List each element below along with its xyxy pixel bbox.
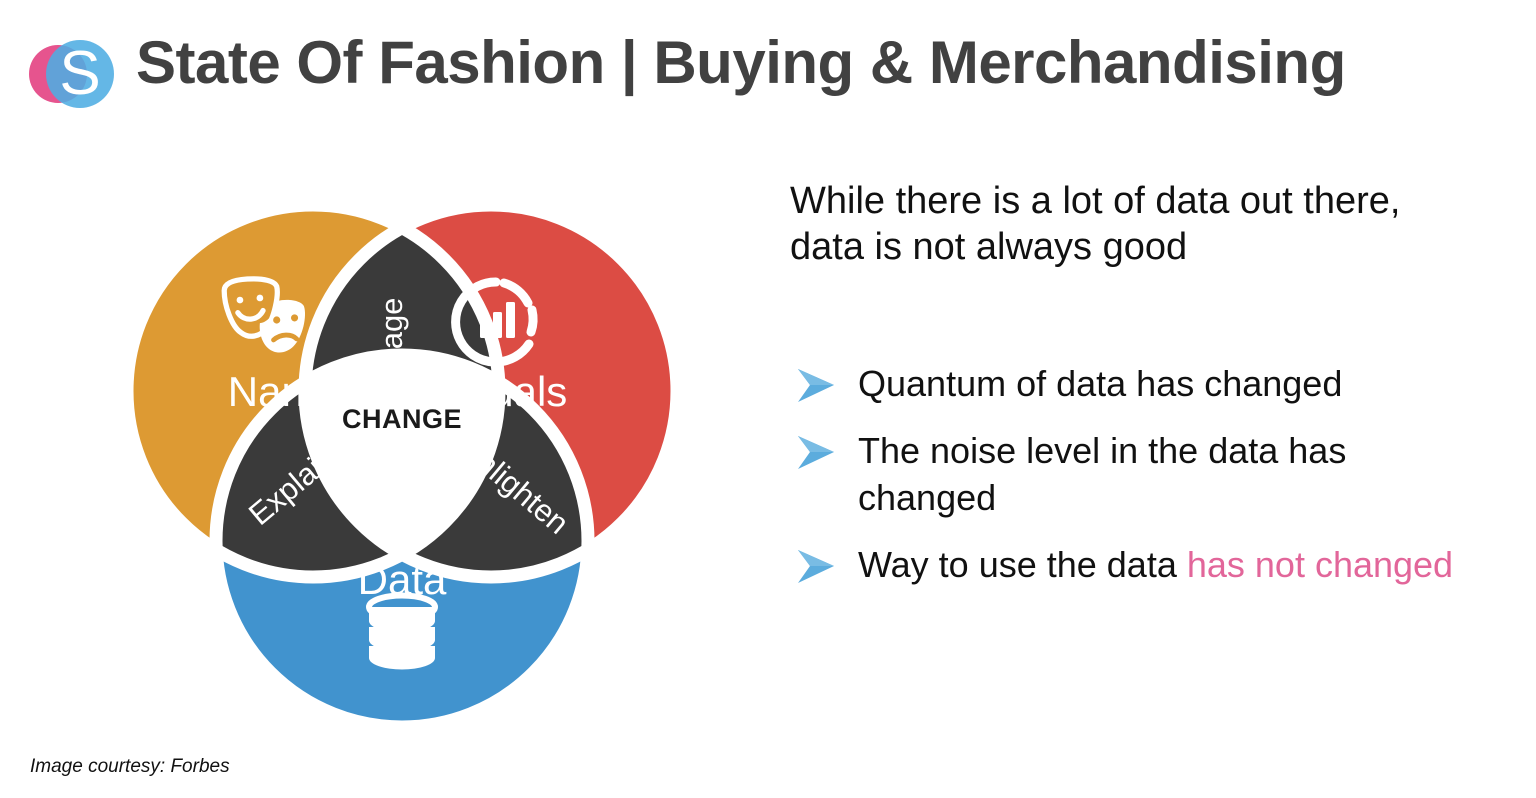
list-item: The noise level in the data has changed bbox=[790, 427, 1490, 521]
page-title: State Of Fashion | Buying & Merchandisin… bbox=[136, 26, 1531, 100]
bullet-text: Quantum of data has changed bbox=[858, 363, 1342, 404]
venn-label-engage: Engage bbox=[374, 298, 409, 405]
bullet-list: Quantum of data has changed The noise le… bbox=[790, 360, 1490, 608]
bullet-highlight: has not changed bbox=[1187, 544, 1453, 585]
brand-logo: S bbox=[18, 28, 124, 120]
bullet-text: The noise level in the data has changed bbox=[858, 430, 1346, 518]
list-item: Way to use the data has not changed bbox=[790, 541, 1490, 588]
slide-header: S State Of Fashion | Buying & Merchandis… bbox=[0, 0, 1536, 140]
lead-paragraph: While there is a lot of data out there, … bbox=[790, 178, 1450, 270]
arrow-bullet-icon bbox=[794, 366, 840, 406]
venn-diagram: Narrative Visuals Data Engage Explain En… bbox=[108, 196, 696, 726]
bullet-text: Way to use the data bbox=[858, 544, 1187, 585]
list-item: Quantum of data has changed bbox=[790, 360, 1490, 407]
venn-label-data: Data bbox=[358, 556, 447, 603]
image-credit: Image courtesy: Forbes bbox=[30, 756, 230, 778]
venn-label-change: CHANGE bbox=[342, 404, 462, 434]
arrow-bullet-icon bbox=[794, 433, 840, 473]
content-column: While there is a lot of data out there, … bbox=[790, 178, 1490, 270]
logo-letter: S bbox=[59, 39, 100, 108]
arrow-bullet-icon bbox=[794, 547, 840, 587]
